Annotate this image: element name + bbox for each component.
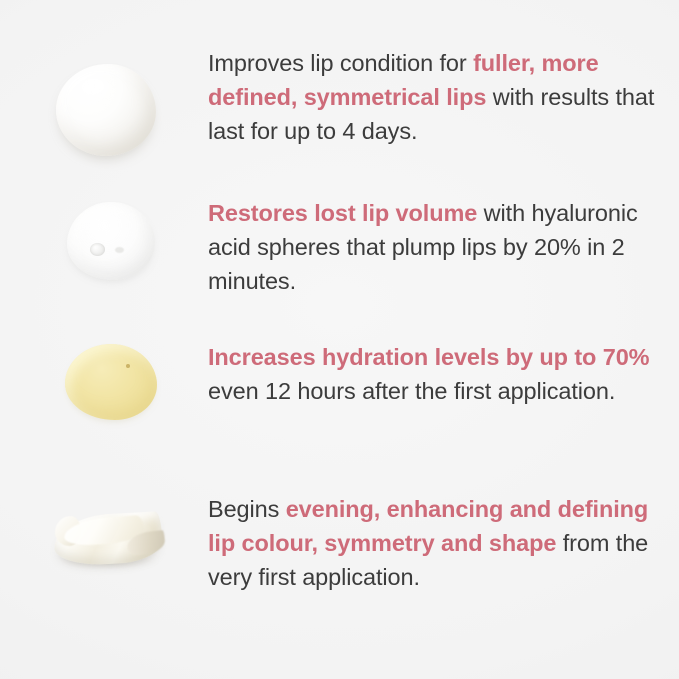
swatch-slot-3 — [40, 340, 180, 480]
benefit-text-4: Begins evening, enhancing and defining l… — [208, 492, 660, 594]
body-phrase: even 12 hours after the first applicatio… — [208, 378, 615, 404]
benefit-text-3: Increases hydration levels by up to 70% … — [208, 340, 660, 408]
benefit-row-3: Increases hydration levels by up to 70% … — [0, 340, 679, 480]
cream-swipe-swatch — [54, 510, 162, 572]
highlighted-phrase: Increases hydration levels by up to 70% — [208, 344, 649, 370]
body-phrase: Begins — [208, 496, 286, 522]
benefit-row-2: Restores lost lip volume with hyaluronic… — [0, 196, 679, 336]
clear-gel-swatch — [67, 202, 155, 280]
benefit-text-1: Improves lip condition for fuller, more … — [208, 46, 660, 148]
body-phrase: Improves lip condition for — [208, 50, 473, 76]
benefit-text-2: Restores lost lip volume with hyaluronic… — [208, 196, 660, 298]
yellow-oil-swatch — [65, 344, 157, 420]
pearl-sphere-swatch — [56, 64, 156, 156]
swatch-slot-1 — [40, 46, 180, 186]
swatch-slot-4 — [40, 492, 180, 632]
highlighted-phrase: Restores lost lip volume — [208, 200, 477, 226]
benefit-row-4: Begins evening, enhancing and defining l… — [0, 492, 679, 632]
swatch-slot-2 — [40, 196, 180, 336]
benefit-row-1: Improves lip condition for fuller, more … — [0, 46, 679, 186]
benefits-infographic: Improves lip condition for fuller, more … — [0, 0, 679, 679]
